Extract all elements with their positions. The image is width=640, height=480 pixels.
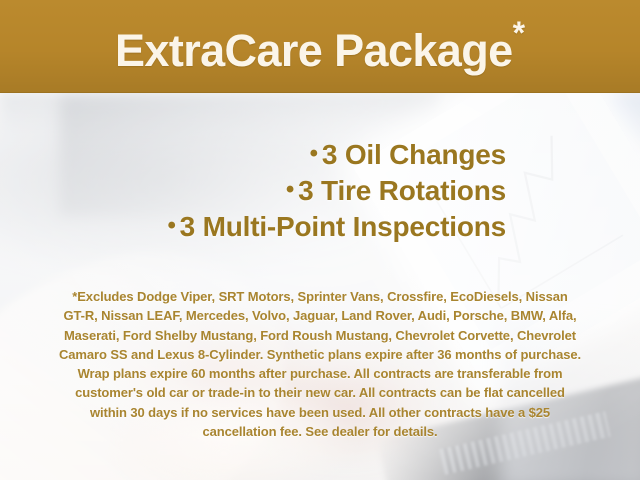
disclaimer-line: GT-R, Nissan LEAF, Mercedes, Volvo, Jagu… [24,306,616,325]
disclaimer-line: cancellation fee. See dealer for details… [24,422,616,441]
page-title-text: ExtraCare Package [115,25,513,76]
photo-hood-shadow [0,93,440,135]
header-band: ExtraCare Package* [0,0,640,93]
list-item-label: 3 Tire Rotations [298,175,506,206]
list-item: •3 Oil Changes [0,136,506,172]
page-title-asterisk: * [513,15,525,51]
page-title: ExtraCare Package* [115,17,525,76]
offer-list: •3 Oil Changes •3 Tire Rotations •3 Mult… [0,136,640,244]
bullet-icon: • [286,176,298,203]
disclaimer-line: customer's old car or trade-in to their … [24,383,616,402]
disclaimer-line: Maserati, Ford Shelby Mustang, Ford Rous… [24,326,616,345]
list-item-label: 3 Oil Changes [322,139,506,170]
disclaimer-line: *Excludes Dodge Viper, SRT Motors, Sprin… [24,287,616,306]
extracare-promo-banner: ExtraCare Package* •3 Oil Changes •3 Tir… [0,0,640,480]
bullet-icon: • [167,212,179,239]
list-item-label: 3 Multi-Point Inspections [180,211,506,242]
disclaimer-line: Camaro SS and Lexus 8-Cylinder. Syntheti… [24,345,616,364]
disclaimer-line: Wrap plans expire 60 months after purcha… [24,364,616,383]
bullet-icon: • [310,140,322,167]
disclaimer-line: within 30 days if no services have been … [24,403,616,422]
list-item: •3 Tire Rotations [0,172,506,208]
list-item: •3 Multi-Point Inspections [0,208,506,244]
disclaimer-text: *Excludes Dodge Viper, SRT Motors, Sprin… [24,287,616,441]
